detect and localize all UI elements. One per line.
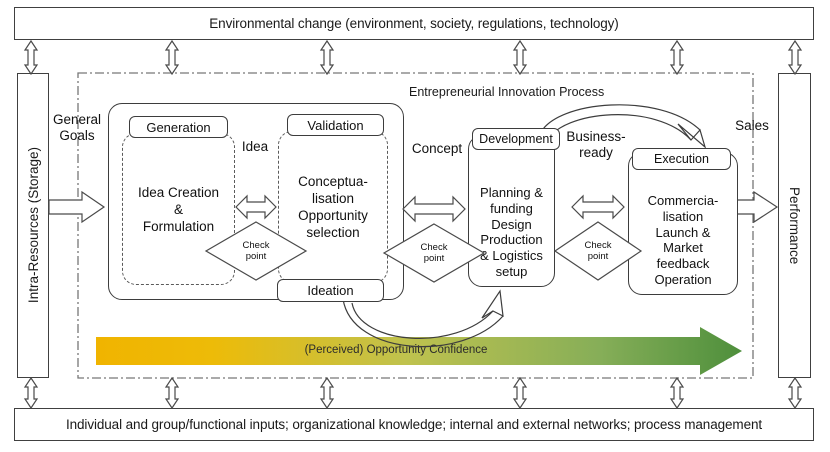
- performance-box: Performance: [778, 73, 811, 378]
- validation-header: Validation: [287, 114, 384, 136]
- process-title: Entrepreneurial Innovation Process: [409, 85, 604, 99]
- idea-label: Idea: [233, 139, 277, 155]
- general-goals-label: General Goals: [46, 112, 108, 143]
- concept-label: Concept: [406, 141, 468, 157]
- opportunity-confidence-label-wrap: (Perceived) Opportunity Confidence: [96, 344, 696, 360]
- ideation-header: Ideation: [277, 279, 384, 302]
- generation-body-text: Idea Creation & Formulation: [123, 184, 234, 235]
- inputs-knowledge-networks-label: Individual and group/functional inputs; …: [66, 417, 762, 432]
- intra-resources-box: Intra-Resources (Storage): [17, 73, 49, 378]
- development-body: Planning & funding Design Production & L…: [468, 135, 555, 287]
- svg-text:point: point: [588, 251, 609, 262]
- intra-resources-label: Intra-Resources (Storage): [26, 147, 41, 303]
- validation-body-text: Conceptua- lisation Opportunity selectio…: [279, 173, 387, 241]
- environmental-change-bar: Environmental change (environment, socie…: [14, 7, 814, 40]
- inputs-knowledge-networks-bar: Individual and group/functional inputs; …: [14, 408, 814, 441]
- svg-text:point: point: [424, 253, 445, 264]
- validation-body: Conceptua- lisation Opportunity selectio…: [278, 131, 388, 283]
- diagram-canvas: Environmental change (environment, socie…: [0, 0, 830, 452]
- execution-header: Execution: [632, 148, 731, 170]
- development-label: Development: [479, 132, 553, 146]
- execution-body-text: Commercia- lisation Launch & Market feed…: [629, 193, 737, 288]
- generation-label: Generation: [146, 120, 210, 135]
- opportunity-confidence-label: (Perceived) Opportunity Confidence: [96, 344, 696, 356]
- svg-text:Check: Check: [585, 240, 612, 251]
- svg-text:Check: Check: [421, 242, 448, 253]
- performance-label: Performance: [787, 187, 802, 264]
- business-ready-label: Business- ready: [562, 129, 630, 160]
- generation-header: Generation: [129, 116, 228, 138]
- development-body-text: Planning & funding Design Production & L…: [469, 185, 554, 280]
- environmental-change-label: Environmental change (environment, socie…: [209, 16, 618, 31]
- generation-body: Idea Creation & Formulation: [122, 133, 235, 285]
- validation-label: Validation: [307, 118, 363, 133]
- execution-body: Commercia- lisation Launch & Market feed…: [628, 152, 738, 295]
- ideation-label: Ideation: [307, 283, 353, 298]
- sales-label: Sales: [727, 118, 777, 134]
- development-header: Development: [472, 128, 560, 150]
- execution-label: Execution: [654, 152, 709, 166]
